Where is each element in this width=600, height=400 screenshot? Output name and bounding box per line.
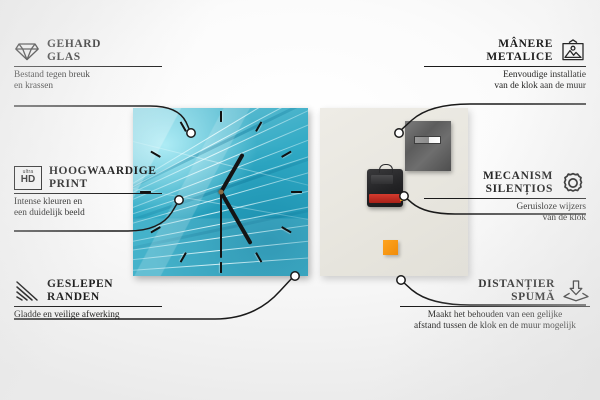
feature-header: ultra HD HOOGWAARDIGE PRINT (14, 165, 162, 190)
bevel-lines-icon (14, 280, 40, 302)
feature-title-line1: GESLEPEN (47, 278, 113, 291)
feature-divider (14, 66, 162, 67)
gear-icon (560, 171, 586, 195)
feature-gehard-glas: GEHARD GLAS Bestand tegen breuk en krass… (14, 38, 162, 92)
feature-desc-line2: van de klok aan de muur (424, 81, 586, 92)
feature-title-line2: RANDEN (47, 291, 113, 304)
feature-header: MECANISM SILENȚIOS (424, 170, 586, 195)
feature-title-line2: METALICE (486, 51, 553, 64)
feature-desc-line2: een duidelijk beeld (14, 208, 162, 219)
ultra-hd-icon: ultra HD (14, 166, 42, 190)
infographic-canvas: GEHARD GLAS Bestand tegen breuk en krass… (0, 0, 600, 400)
feature-desc-line1: Geruisloze wijzers (424, 202, 586, 213)
feature-header: MÂNERE METALICE (424, 38, 586, 63)
feature-header: GEHARD GLAS (14, 38, 162, 63)
feature-desc-line2: afstand tussen de klok en de muur mogeli… (400, 321, 590, 332)
picture-frame-icon (560, 39, 586, 63)
feature-desc-line1: Eenvoudige installatie (424, 70, 586, 81)
feature-title-line2: SPUMĂ (478, 291, 555, 304)
feature-divider (424, 198, 586, 199)
feature-geslepen-randen: GESLEPEN RANDEN Gladde en veilige afwerk… (14, 278, 162, 321)
feature-divider (400, 306, 590, 307)
feature-mecanism-silentios: MECANISM SILENȚIOS Geruisloze wijzers va… (424, 170, 586, 224)
movement-hanger-loop (379, 164, 393, 173)
feature-title-line1: HOOGWAARDIGE (49, 165, 157, 178)
feature-desc-line1: Gladde en veilige afwerking (14, 310, 162, 321)
feature-hoogwaardige-print: ultra HD HOOGWAARDIGE PRINT Intense kleu… (14, 165, 162, 219)
clock-center-hub (218, 190, 223, 195)
feature-header: GESLEPEN RANDEN (14, 278, 162, 303)
feature-title-line2: SILENȚIOS (483, 183, 553, 196)
feature-header: DISTANȚIER SPUMĂ (400, 278, 590, 303)
feature-manere-metalice: MÂNERE METALICE Eenvoudige installatie v… (424, 38, 586, 92)
feature-desc-line1: Intense kleuren en (14, 197, 162, 208)
feature-desc-line2: van de klok (424, 213, 586, 224)
feature-title-line1: MÂNERE (486, 38, 553, 51)
feature-divider (14, 306, 162, 307)
movement-label (371, 175, 393, 184)
feature-distantier-spuma: DISTANȚIER SPUMĂ Maakt het behouden van … (400, 278, 590, 332)
aa-battery (369, 194, 401, 203)
feature-title-line1: DISTANȚIER (478, 278, 555, 291)
diamond-icon (14, 40, 40, 62)
ultra-hd-icon-main-text: HD (21, 175, 35, 185)
feature-desc-line1: Bestand tegen breuk (14, 70, 162, 81)
feature-divider (424, 66, 586, 67)
foam-spacer (383, 240, 398, 255)
metal-hanger-plate (405, 121, 451, 171)
feature-title-line2: GLAS (47, 51, 101, 64)
feature-title-line1: MECANISM (483, 170, 553, 183)
feature-title-line2: PRINT (49, 178, 157, 191)
clock-movement-mechanism (367, 169, 403, 207)
feature-desc-line1: Maakt het behouden van een gelijke (400, 310, 590, 321)
feature-title-line1: GEHARD (47, 38, 101, 51)
feature-divider (14, 193, 162, 194)
feature-desc-line2: en krassen (14, 81, 162, 92)
spacer-down-arrow-icon (562, 279, 590, 303)
